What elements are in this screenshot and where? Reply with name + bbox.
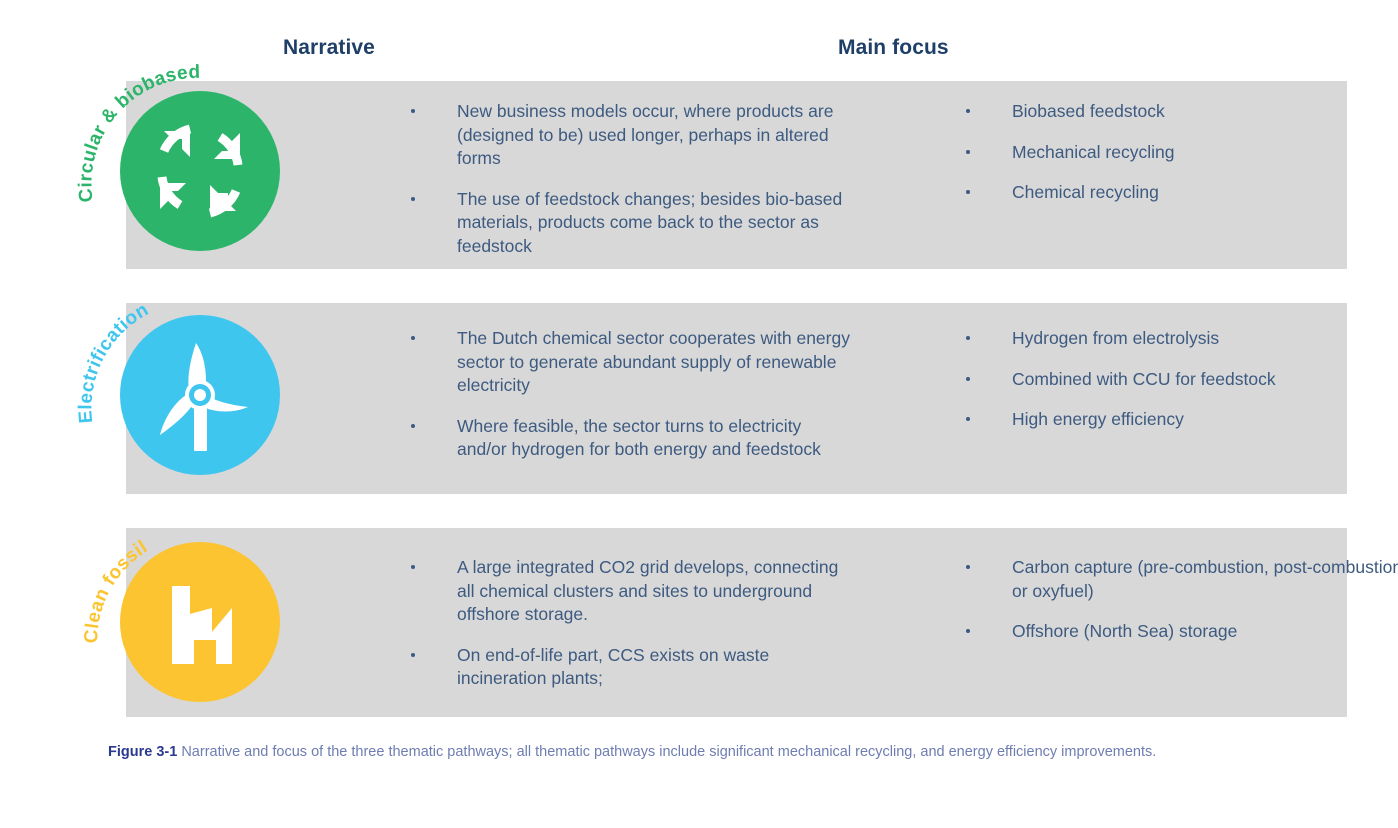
bullet-dot-icon [411, 197, 415, 201]
bullet-dot-icon [966, 565, 970, 569]
narrative-bullet-text: Where feasible, the sector turns to elec… [457, 415, 854, 462]
list-item: Hydrogen from electrolysis [964, 327, 1398, 351]
main-focus-bullet-text: Carbon capture (pre-combustion, post-com… [1012, 556, 1398, 603]
pathway-row-circular-biobased: Circular & biobased New business models … [126, 81, 1347, 269]
list-item: Carbon capture (pre-combustion, post-com… [964, 556, 1398, 603]
list-item: Biobased feedstock [964, 100, 1398, 124]
list-item: The Dutch chemical sector cooperates wit… [409, 327, 854, 398]
list-item: Where feasible, the sector turns to elec… [409, 415, 854, 462]
main-focus-bullet-text: Chemical recycling [1012, 181, 1398, 205]
list-item: Combined with CCU for feedstock [964, 368, 1398, 392]
main-focus-list: Hydrogen from electrolysis Combined with… [964, 303, 1398, 432]
narrative-bullet-text: A large integrated CO2 grid develops, co… [457, 556, 854, 627]
pathway-badge: Circular & biobased [120, 91, 280, 251]
main-focus-bullet-text: Combined with CCU for feedstock [1012, 368, 1398, 392]
bullet-dot-icon [411, 336, 415, 340]
bullet-dot-icon [966, 190, 970, 194]
pathway-badge: Electrification [120, 315, 280, 475]
bullet-dot-icon [966, 417, 970, 421]
narrative-bullet-text: On end-of-life part, CCS exists on waste… [457, 644, 854, 691]
main-focus-bullet-text: Mechanical recycling [1012, 141, 1398, 165]
list-item: A large integrated CO2 grid develops, co… [409, 556, 854, 627]
narrative-list: New business models occur, where product… [409, 81, 854, 258]
column-header-narrative: Narrative [283, 36, 375, 60]
list-item: High energy efficiency [964, 408, 1398, 432]
main-focus-bullet-text: Hydrogen from electrolysis [1012, 327, 1398, 351]
figure-page: Narrative Main focus [0, 0, 1398, 828]
pathway-icon-cell: Clean fossil [98, 528, 308, 717]
bullet-dot-icon [966, 629, 970, 633]
list-item: On end-of-life part, CCS exists on waste… [409, 644, 854, 691]
figure-caption: Figure 3-1 Narrative and focus of the th… [108, 742, 1318, 763]
pathway-badge: Clean fossil [120, 542, 280, 702]
figure-caption-text: Narrative and focus of the three themati… [177, 744, 1156, 760]
pathway-icon-cell: Circular & biobased [98, 81, 308, 269]
list-item: The use of feedstock changes; besides bi… [409, 188, 854, 259]
pathway-row-clean-fossil: Clean fossil A large integrated CO2 grid… [126, 528, 1347, 717]
bullet-dot-icon [411, 109, 415, 113]
factory-icon [120, 542, 280, 702]
list-item: New business models occur, where product… [409, 100, 854, 171]
recycle-loop-icon [120, 91, 280, 251]
bullet-dot-icon [966, 377, 970, 381]
pathway-row-electrification: Electrification The Dutch chemical secto… [126, 303, 1347, 494]
main-focus-bullet-text: Offshore (North Sea) storage [1012, 620, 1398, 644]
bullet-dot-icon [966, 336, 970, 340]
bullet-dot-icon [966, 109, 970, 113]
narrative-bullet-text: The use of feedstock changes; besides bi… [457, 188, 854, 259]
figure-caption-label: Figure 3-1 [108, 744, 177, 760]
column-header-main-focus: Main focus [838, 36, 949, 60]
narrative-list: A large integrated CO2 grid develops, co… [409, 528, 854, 691]
main-focus-bullet-text: High energy efficiency [1012, 408, 1398, 432]
main-focus-list: Carbon capture (pre-combustion, post-com… [964, 528, 1398, 644]
narrative-bullet-text: The Dutch chemical sector cooperates wit… [457, 327, 854, 398]
list-item: Mechanical recycling [964, 141, 1398, 165]
narrative-list: The Dutch chemical sector cooperates wit… [409, 303, 854, 462]
bullet-dot-icon [966, 150, 970, 154]
main-focus-list: Biobased feedstock Mechanical recycling … [964, 81, 1398, 205]
main-focus-bullet-text: Biobased feedstock [1012, 100, 1398, 124]
pathway-icon-cell: Electrification [98, 303, 308, 494]
bullet-dot-icon [411, 653, 415, 657]
bullet-dot-icon [411, 565, 415, 569]
list-item: Offshore (North Sea) storage [964, 620, 1398, 644]
wind-turbine-icon [120, 315, 280, 475]
narrative-bullet-text: New business models occur, where product… [457, 100, 854, 171]
list-item: Chemical recycling [964, 181, 1398, 205]
bullet-dot-icon [411, 424, 415, 428]
